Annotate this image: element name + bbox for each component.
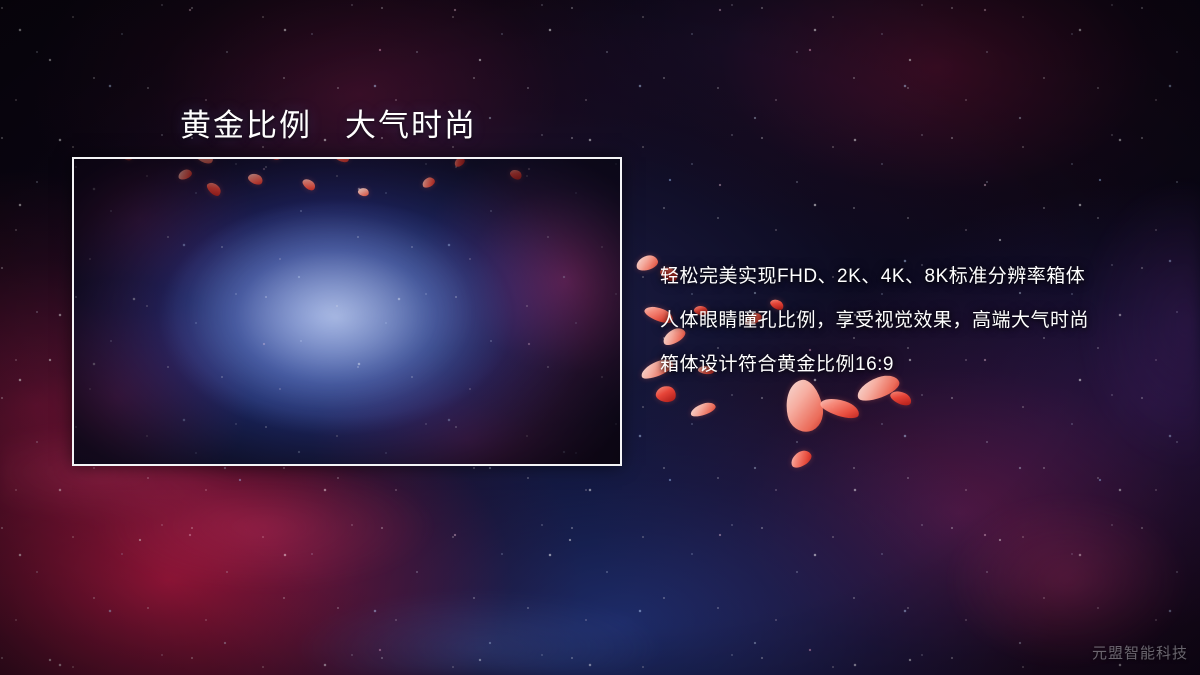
slide-root: 黄金比例 大气时尚 轻松完美实现FHD、2K、4K、8K标准分辨率箱体 人体眼睛… <box>0 0 1200 675</box>
body-paragraph: 轻松完美实现FHD、2K、4K、8K标准分辨率箱体 人体眼睛瞳孔比例，享受视觉效… <box>660 255 1180 387</box>
watermark: 元盟智能科技 <box>1092 642 1188 663</box>
body-line-3: 箱体设计符合黄金比例16:9 <box>660 343 1180 387</box>
page-title: 黄金比例 大气时尚 <box>180 100 477 145</box>
body-line-2: 人体眼睛瞳孔比例，享受视觉效果，高端大气时尚 <box>660 299 1180 343</box>
image-frame <box>72 157 622 466</box>
panel-vignette <box>74 159 620 464</box>
body-line-1: 轻松完美实现FHD、2K、4K、8K标准分辨率箱体 <box>660 255 1180 299</box>
